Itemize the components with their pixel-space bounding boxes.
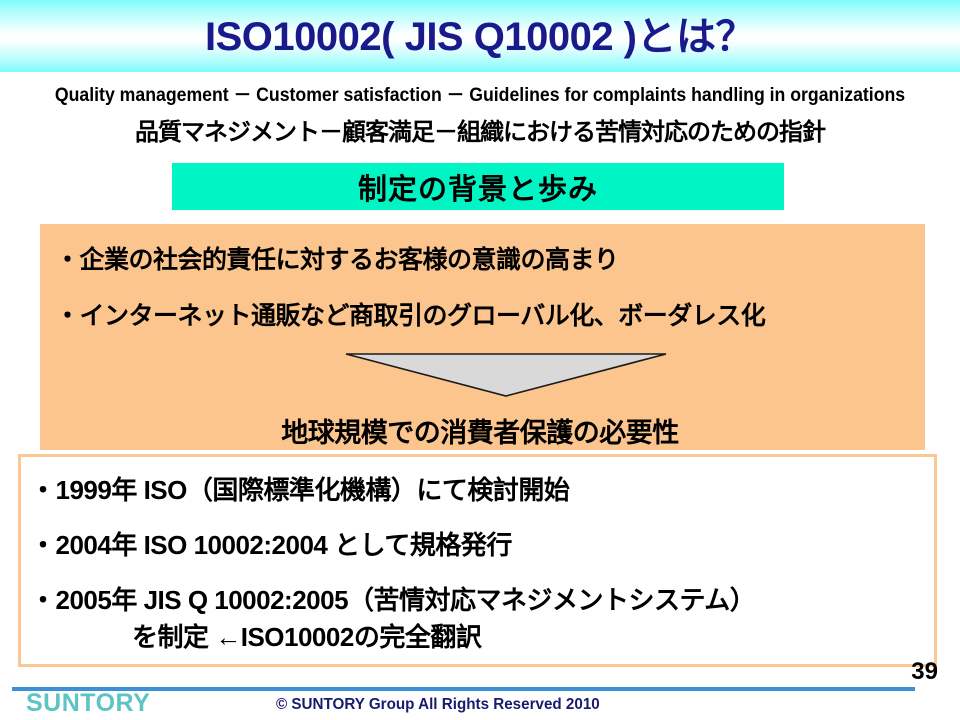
page-number: 39: [911, 658, 938, 686]
section-heading-label: 制定の背景と歩み: [358, 166, 598, 208]
background-bullet-1: ・企業の社会的責任に対するお客様の意識の高まり: [55, 240, 619, 276]
timeline-item-2004: ・2004年 ISO 10002:2004 として規格発行: [30, 525, 512, 562]
timeline-item-2005-continued: を制定 ←ISO10002の完全翻訳: [132, 617, 481, 654]
page-title: ISO10002( JIS Q10002 )とは？: [205, 17, 755, 57]
timeline-item-1999: ・1999年 ISO（国際標準化機構）にて検討開始: [30, 470, 569, 507]
background-bullet-2: ・インターネット通販など商取引のグローバル化、ボーダレス化: [55, 296, 765, 332]
section-heading-box: 制定の背景と歩み: [172, 163, 784, 210]
title-banner: ISO10002( JIS Q10002 )とは？: [0, 0, 960, 72]
suntory-logo: SUNTORY: [26, 689, 150, 718]
slide-canvas: ISO10002( JIS Q10002 )とは？ Quality manage…: [0, 0, 960, 720]
copyright-notice: © SUNTORY Group All Rights Reserved 2010: [276, 696, 600, 714]
timeline-item-2005: ・2005年 JIS Q 10002:2005（苦情対応マネジメントシステム）: [30, 580, 755, 617]
conclusion-text: 地球規模での消費者保護の必要性: [0, 411, 960, 450]
subtitle-english: Quality management － Customer satisfacti…: [34, 80, 927, 107]
subtitle-japanese: 品質マネジメント－顧客満足－組織における苦情対応のための指針: [0, 112, 960, 147]
